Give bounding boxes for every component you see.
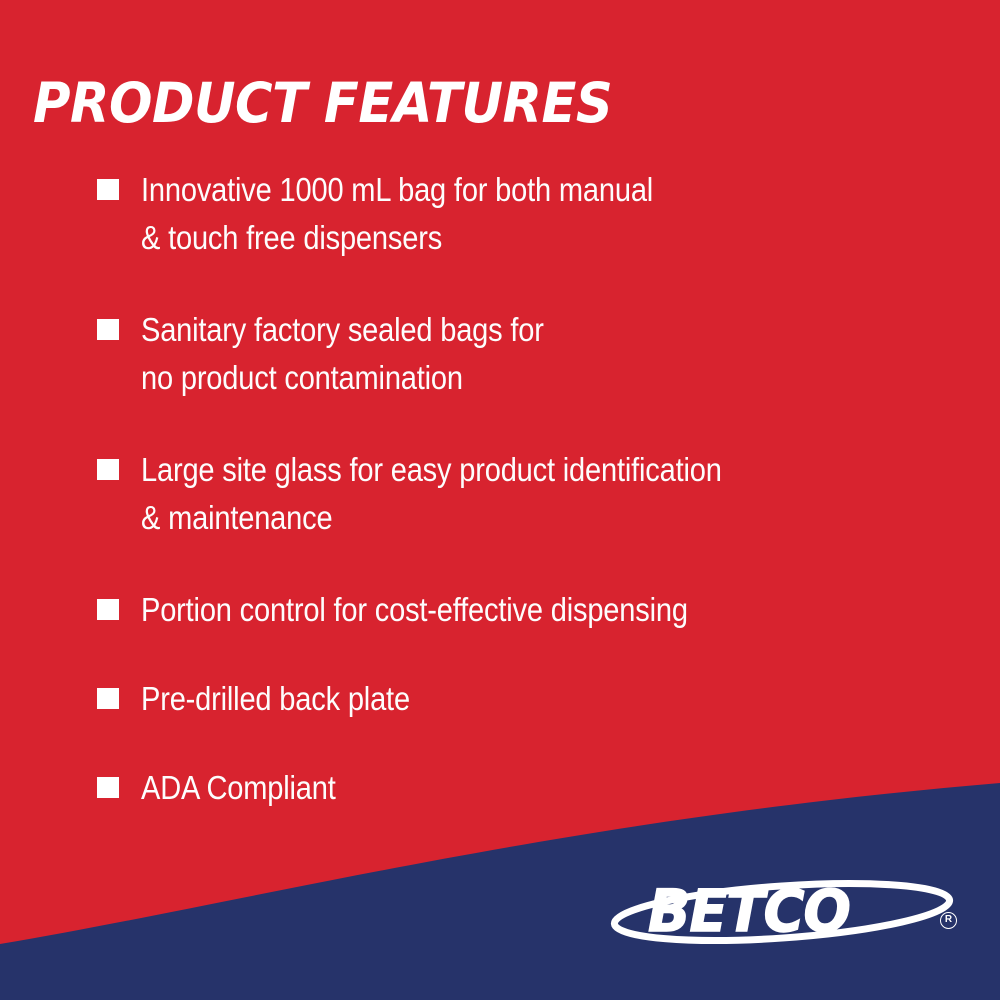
feature-item-label: Large site glass for easy product identi… [141,446,982,542]
betco-logo: BETCO R [610,874,960,950]
square-bullet-icon [97,319,119,340]
square-bullet-icon [97,777,119,798]
square-bullet-icon [97,459,119,480]
feature-item-label: ADA Compliant [141,764,982,812]
feature-list: Innovative 1000 mL bag for both manual &… [97,166,987,834]
feature-item-1: Innovative 1000 mL bag for both manual &… [97,166,987,262]
square-bullet-icon [97,179,119,200]
feature-item-5: Pre-drilled back plate [97,675,987,723]
feature-item-2: Sanitary factory sealed bags for no prod… [97,306,987,402]
feature-item-6: ADA Compliant [97,764,987,812]
feature-item-3: Large site glass for easy product identi… [97,446,987,542]
feature-item-label: Sanitary factory sealed bags for no prod… [141,306,982,402]
feature-item-4: Portion control for cost-effective dispe… [97,586,987,634]
product-features-banner: PRODUCT FEATURES Innovative 1000 mL bag … [0,0,1000,1000]
square-bullet-icon [97,688,119,709]
square-bullet-icon [97,599,119,620]
betco-wordmark: BETCO [648,880,850,942]
feature-item-label: Pre-drilled back plate [141,675,982,723]
feature-item-label: Innovative 1000 mL bag for both manual &… [141,166,982,262]
feature-item-label: Portion control for cost-effective dispe… [141,586,982,634]
page-title: PRODUCT FEATURES [33,76,612,131]
registered-trademark-icon: R [940,912,957,929]
